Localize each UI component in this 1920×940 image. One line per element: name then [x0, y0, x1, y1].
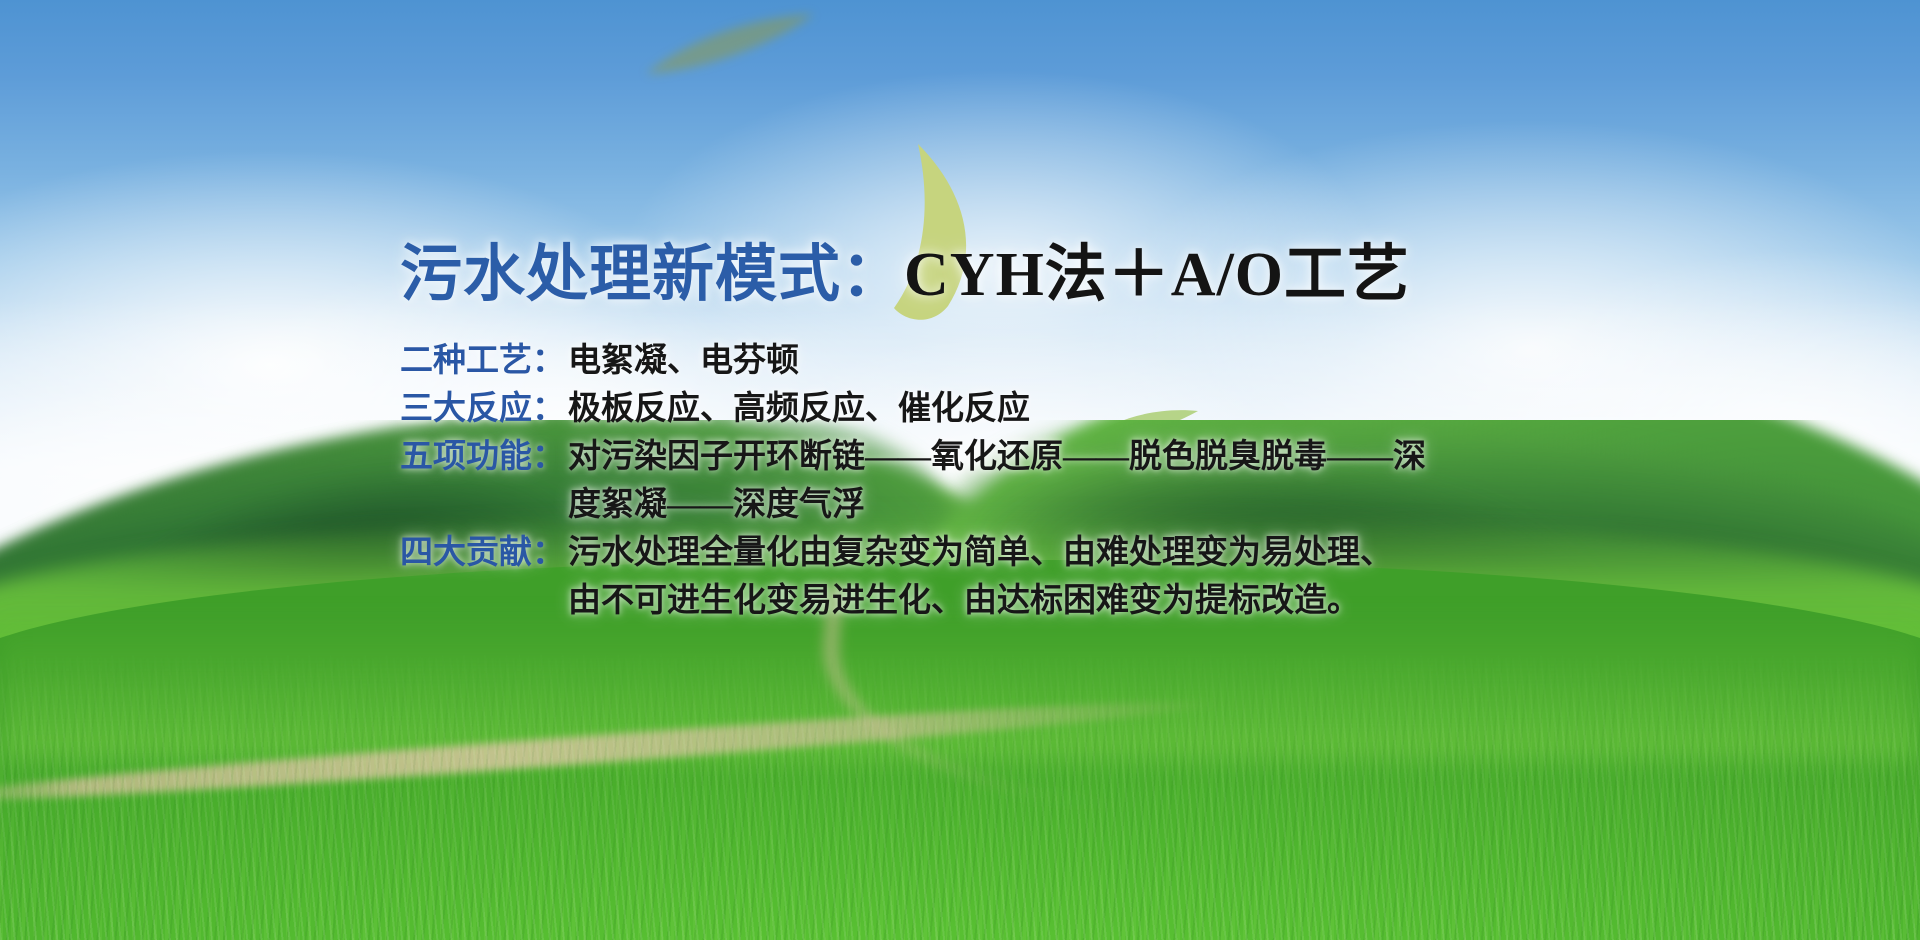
- slide-canvas: 污水处理新模式：CYH法＋A/O工艺 二种工艺： 电絮凝、电芬顿 三大反应： 极…: [0, 0, 1920, 940]
- list-item-value: 电絮凝、电芬顿: [568, 337, 799, 385]
- list-item-label: 四大贡献：: [400, 529, 568, 577]
- bullet-list: 二种工艺： 电絮凝、电芬顿 三大反应： 极板反应、高频反应、催化反应 五项功能：…: [400, 337, 1600, 625]
- list-item-label: 二种工艺：: [400, 337, 568, 385]
- page-title-dark: CYH法＋A/O工艺: [904, 241, 1410, 309]
- page-title: 污水处理新模式：CYH法＋A/O工艺: [400, 240, 1600, 311]
- list-item-continuation: 由不可进生化变易进生化、由达标困难变为提标改造。: [568, 577, 1600, 625]
- list-item-label: 三大反应：: [400, 385, 568, 433]
- text-content: 污水处理新模式：CYH法＋A/O工艺 二种工艺： 电絮凝、电芬顿 三大反应： 极…: [400, 240, 1600, 625]
- list-item-value: 极板反应、高频反应、催化反应: [568, 385, 1030, 433]
- list-item-label: 五项功能：: [400, 433, 568, 481]
- grass-texture: [0, 650, 1920, 940]
- list-item-value: 对污染因子开环断链——氧化还原——脱色脱臭脱毒——深: [568, 433, 1426, 481]
- list-item: 五项功能： 对污染因子开环断链——氧化还原——脱色脱臭脱毒——深: [400, 433, 1600, 481]
- list-item: 四大贡献： 污水处理全量化由复杂变为简单、由难处理变为易处理、: [400, 529, 1600, 577]
- list-item-continuation: 度絮凝——深度气浮: [568, 481, 1600, 529]
- list-item: 二种工艺： 电絮凝、电芬顿: [400, 337, 1600, 385]
- list-item-value: 污水处理全量化由复杂变为简单、由难处理变为易处理、: [568, 529, 1393, 577]
- page-title-blue: 污水处理新模式：: [400, 241, 904, 309]
- list-item: 三大反应： 极板反应、高频反应、催化反应: [400, 385, 1600, 433]
